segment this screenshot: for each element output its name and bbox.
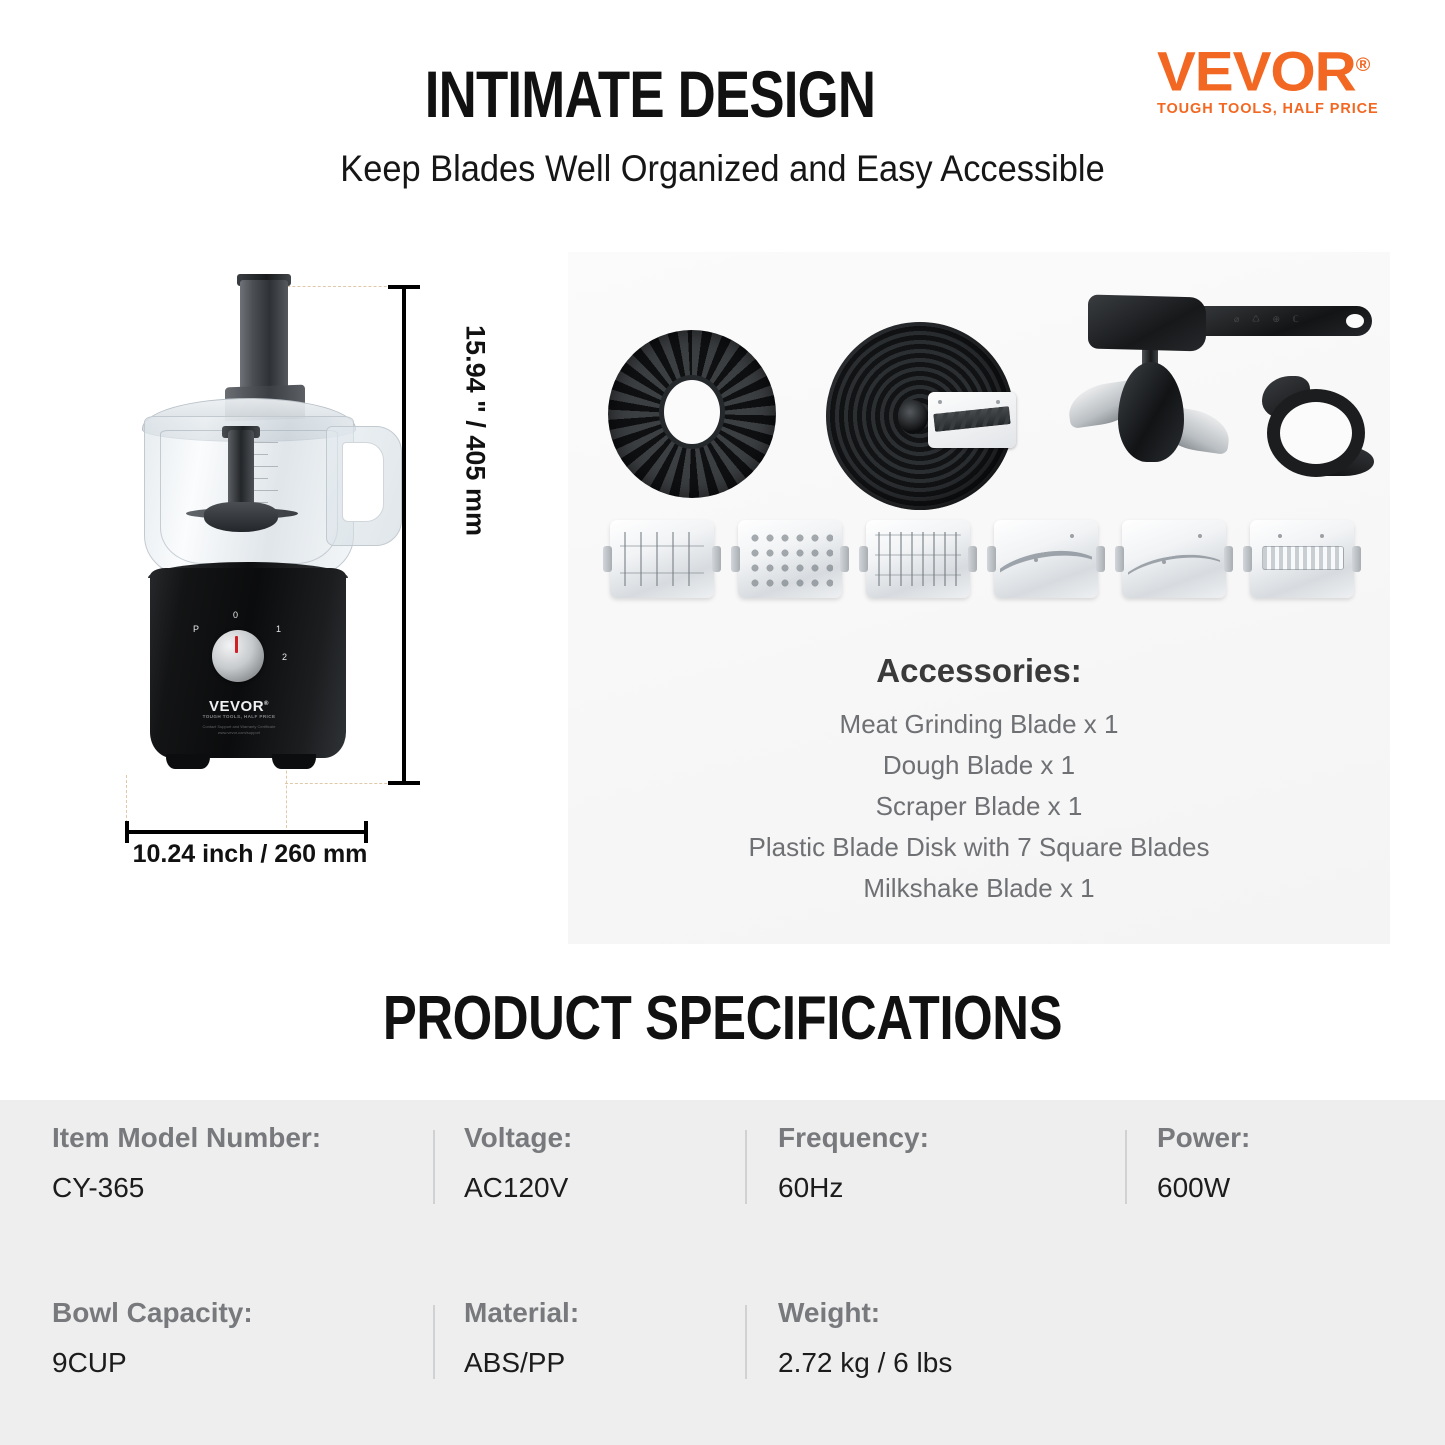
vevor-logo: VEVOR® TOUGH TOOLS, HALF PRICE [1157, 40, 1402, 112]
spec-value: CY-365 [52, 1172, 321, 1204]
disk-insert-screw-a [938, 400, 942, 404]
page-header: INTIMATE DESIGN Keep Blades Well Organiz… [0, 0, 1445, 230]
insert-tab-left [1243, 546, 1252, 572]
insert-julienne-teeth [1262, 546, 1344, 570]
accessories-top-row: ⌀ ♺ ⊕ ℂ [568, 282, 1390, 512]
insert-thick-slicer [994, 520, 1098, 598]
spec-cell-model: Item Model Number: CY-365 [52, 1122, 321, 1204]
spec-value: 60Hz [778, 1172, 929, 1204]
spec-divider [433, 1305, 435, 1379]
width-dimension-line [125, 830, 368, 834]
spec-label: Frequency: [778, 1122, 929, 1154]
page-title: INTIMATE DESIGN [130, 56, 1170, 132]
insert-coarse-oval-grater [610, 520, 714, 598]
insert-round-hole-grater [738, 520, 842, 598]
insert-tab-right [968, 546, 977, 572]
dough-blade-ring [1280, 402, 1352, 464]
food-processor-illustration: P 0 1 2 VEVOR® TOUGH TOOLS, HALF PRICE C… [130, 280, 380, 790]
base-brand-label: VEVOR® [181, 698, 297, 715]
brand-name: VEVOR [1157, 40, 1356, 103]
accessory-item: Meat Grinding Blade x 1 [568, 704, 1390, 745]
dial-label-speed-1: 1 [276, 624, 281, 634]
knob-indicator-mark [235, 636, 238, 653]
fluted-grinding-disk-icon [608, 330, 776, 498]
base-foot-left [166, 754, 210, 769]
brand-wordmark: VEVOR® [1157, 40, 1412, 98]
s-blade-body [1118, 362, 1184, 462]
spec-label: Power: [1157, 1122, 1250, 1154]
insert-tab-left [1115, 546, 1124, 572]
spec-label: Weight: [778, 1297, 952, 1329]
insert-oval-hole-pattern [620, 532, 704, 586]
scraper-embossed-marks: ⌀ ♺ ⊕ ℂ [1234, 314, 1330, 327]
accessories-list: Meat Grinding Blade x 1 Dough Blade x 1 … [568, 704, 1390, 909]
scraper-spatula-icon: ⌀ ♺ ⊕ ℂ [1088, 290, 1378, 360]
insert-tab-left [603, 546, 612, 572]
insert-thin-slicer [1122, 520, 1226, 598]
speed-control-knob [212, 630, 264, 682]
insert-screw-a [1198, 534, 1202, 538]
spec-label: Bowl Capacity: [52, 1297, 253, 1329]
registered-mark: ® [1356, 55, 1370, 76]
base-brand-tagline: TOUGH TOOLS, HALF PRICE [181, 714, 297, 719]
product-photo-block: P 0 1 2 VEVOR® TOUGH TOOLS, HALF PRICE C… [55, 255, 535, 895]
spec-cell-bowl-capacity: Bowl Capacity: 9CUP [52, 1297, 253, 1379]
base-registered-mark: ® [264, 701, 269, 707]
spec-divider [433, 1130, 435, 1204]
base-foot-right [272, 754, 316, 769]
insert-tab-right [1352, 546, 1361, 572]
spec-label: Material: [464, 1297, 579, 1329]
spec-label: Voltage: [464, 1122, 572, 1154]
insert-tab-left [987, 546, 996, 572]
insert-tab-right [840, 546, 849, 572]
accessory-item: Dough Blade x 1 [568, 745, 1390, 786]
dial-label-speed-2: 2 [282, 652, 287, 662]
spec-value: 9CUP [52, 1347, 253, 1379]
scraper-hang-hole [1346, 314, 1364, 328]
spec-divider [1125, 1130, 1127, 1204]
specifications-heading: PRODUCT SPECIFICATIONS [130, 983, 1315, 1054]
scraper-blade [1088, 294, 1206, 351]
insert-tab-right [1224, 546, 1233, 572]
dial-label-pulse: P [193, 624, 199, 634]
insert-tab-left [859, 546, 868, 572]
insert-fine-hole-pattern [875, 532, 961, 586]
insert-round-hole-pattern [747, 530, 833, 588]
specifications-table: Item Model Number: CY-365 Voltage: AC120… [0, 1100, 1445, 1445]
spec-cell-power: Power: 600W [1157, 1122, 1250, 1204]
bowl-handle-opening [342, 442, 384, 522]
width-dimension-label: 10.24 inch / 260 mm [75, 840, 425, 869]
insert-tab-right [1096, 546, 1105, 572]
height-dimension-cap-bottom [388, 781, 420, 785]
accessories-heading: Accessories: [568, 652, 1390, 690]
dough-blade-icon [1258, 372, 1378, 492]
accessory-item: Milkshake Blade x 1 [568, 868, 1390, 909]
page-subtitle: Keep Blades Well Organized and Easy Acce… [51, 148, 1395, 190]
bowl-measurement-marks [250, 442, 320, 552]
spec-value: AC120V [464, 1172, 572, 1204]
disk-insert-screw-b [996, 400, 1000, 404]
spec-cell-voltage: Voltage: AC120V [464, 1122, 572, 1204]
square-blade-inserts-row [568, 520, 1390, 610]
insert-slicing-edge [1000, 530, 1092, 588]
spec-cell-frequency: Frequency: 60Hz [778, 1122, 929, 1204]
insert-screw-b [1034, 558, 1038, 562]
spec-cell-material: Material: ABS/PP [464, 1297, 579, 1379]
accessory-item: Plastic Blade Disk with 7 Square Blades [568, 827, 1390, 868]
spec-value: ABS/PP [464, 1347, 579, 1379]
accessory-item: Scraper Blade x 1 [568, 786, 1390, 827]
disk-hub-icon [898, 400, 928, 434]
spec-cell-weight: Weight: 2.72 kg / 6 lbs [778, 1297, 952, 1379]
insert-screw-b [1162, 560, 1166, 564]
height-dimension-label: 15.94 " / 405 mm [460, 311, 491, 551]
insert-screw-a [1278, 534, 1282, 538]
accessories-panel: ⌀ ♺ ⊕ ℂ [568, 252, 1390, 944]
insert-tab-right [712, 546, 721, 572]
insert-tab-left [731, 546, 740, 572]
base-brand-text: VEVOR [209, 698, 264, 715]
spec-divider [745, 1305, 747, 1379]
height-dimension-line [402, 285, 406, 785]
insert-julienne-cutter [1250, 520, 1354, 598]
spec-label: Item Model Number: [52, 1122, 321, 1154]
spec-value: 600W [1157, 1172, 1250, 1204]
insert-screw-b [1320, 534, 1324, 538]
spec-value: 2.72 kg / 6 lbs [778, 1347, 952, 1379]
insert-screw-a [1070, 534, 1074, 538]
bowl-blade-hub [204, 502, 278, 532]
insert-slicing-edge [1128, 530, 1220, 588]
insert-fine-shred-grater [866, 520, 970, 598]
brand-tagline: TOUGH TOOLS, HALF PRICE [1157, 101, 1402, 117]
spec-divider [745, 1130, 747, 1204]
base-fine-print: Contact Support and Warranty Certificate… [181, 724, 297, 735]
dial-label-off: 0 [233, 610, 238, 620]
